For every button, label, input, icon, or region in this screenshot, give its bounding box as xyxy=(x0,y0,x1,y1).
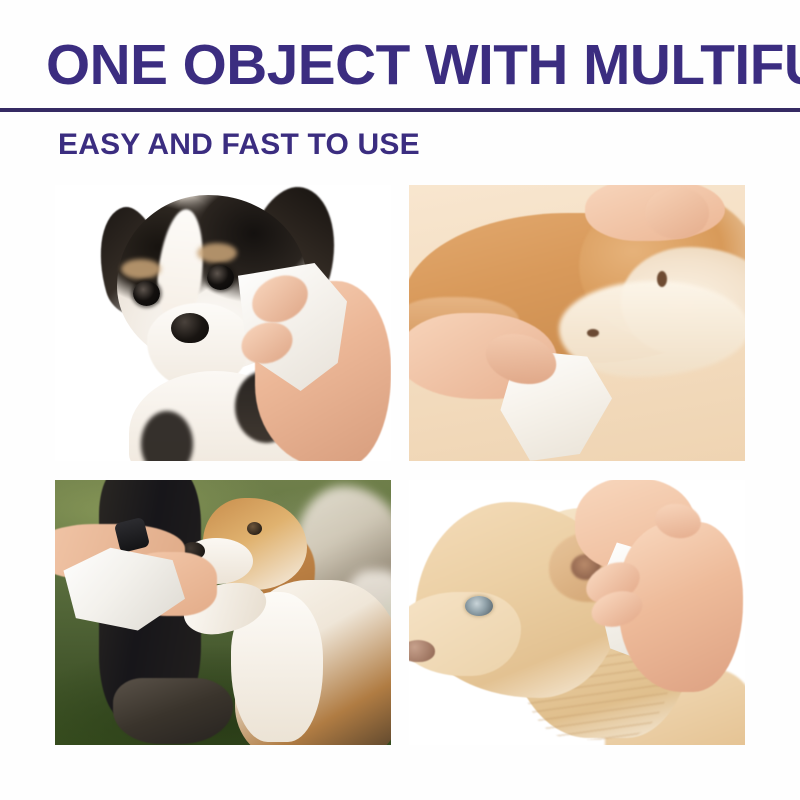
photo-wipe-dog-paw xyxy=(55,480,391,745)
photo-cell-top-left xyxy=(55,185,391,461)
dog-eye-right xyxy=(207,265,234,290)
dog-nose xyxy=(171,313,209,343)
puppy-navel xyxy=(657,271,667,287)
page-subtitle: EASY AND FAST TO USE xyxy=(58,126,420,164)
dog-brow-right xyxy=(197,243,237,263)
product-infographic-page: ONE OBJECT WITH MULTIFUNCTION EASY AND F… xyxy=(0,0,800,800)
photo-wipe-dog-eye xyxy=(55,185,391,461)
photo-cell-bottom-right xyxy=(409,480,745,745)
header-divider xyxy=(0,108,800,112)
photo-grid xyxy=(55,185,745,745)
page-title: ONE OBJECT WITH MULTIFUNCTION xyxy=(46,36,754,94)
photo-wipe-dog-belly xyxy=(409,185,745,461)
puppy-nipple xyxy=(587,329,599,337)
beagle-eye xyxy=(247,522,262,535)
human-boot xyxy=(113,678,233,744)
human-fist-upper xyxy=(645,187,709,239)
photo-cell-bottom-left xyxy=(55,480,391,745)
dachshund-eye xyxy=(465,596,493,616)
dog-eye-left xyxy=(133,281,160,306)
photo-wipe-dog-ear xyxy=(409,480,745,745)
photo-cell-top-right xyxy=(409,185,745,461)
dog-brow-left xyxy=(121,259,161,279)
